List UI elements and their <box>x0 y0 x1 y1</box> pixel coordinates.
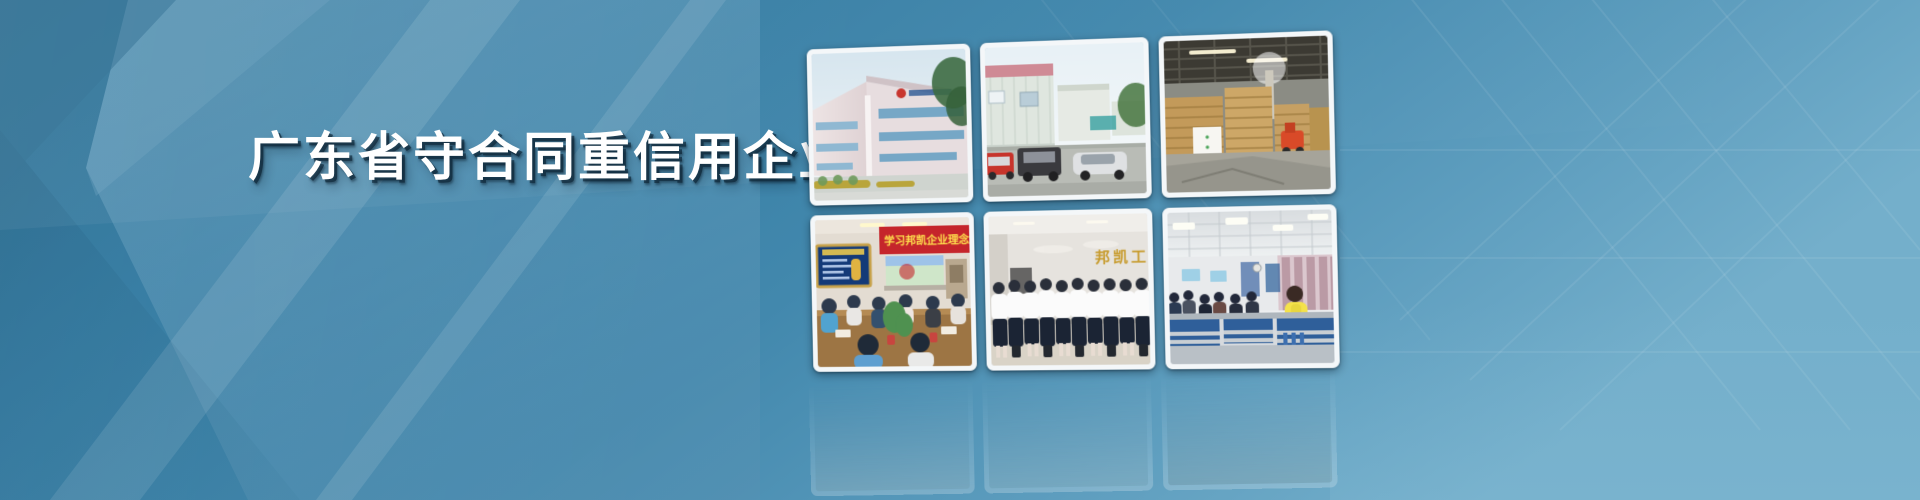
page-title: 广东省守合同重信用企业 <box>248 131 853 186</box>
gallery-photo-meeting-room[interactable]: 学习邦凯企业理念 <box>810 212 977 372</box>
photo-gallery: 学习邦凯企业理念 <box>807 30 1340 372</box>
photo-image-office <box>1167 209 1334 364</box>
headline-container: 广东省守合同重信用企业 <box>248 118 868 198</box>
svg-text:邦凯工程塑料: 邦凯工程塑料 <box>1095 246 1151 266</box>
photo-image-staff-group: 邦凯工程塑料 <box>988 213 1150 365</box>
gallery-photo-warehouse[interactable] <box>1158 30 1336 198</box>
company-honor-banner: 广东省守合同重信用企业 <box>0 0 1920 500</box>
gallery-photo-workshop-building[interactable] <box>980 37 1152 202</box>
photo-image-factory-front <box>811 49 968 201</box>
photo-grid: 学习邦凯企业理念 <box>807 30 1340 372</box>
gallery-photo-factory-front[interactable] <box>807 43 974 205</box>
gallery-photo-staff-group[interactable]: 邦凯工程塑料 <box>983 208 1155 370</box>
gallery-photo-office[interactable] <box>1162 204 1340 369</box>
photo-image-meeting-room: 学习邦凯企业理念 <box>815 217 972 367</box>
photo-image-workshop-building <box>985 42 1147 197</box>
photo-image-warehouse <box>1164 36 1331 193</box>
